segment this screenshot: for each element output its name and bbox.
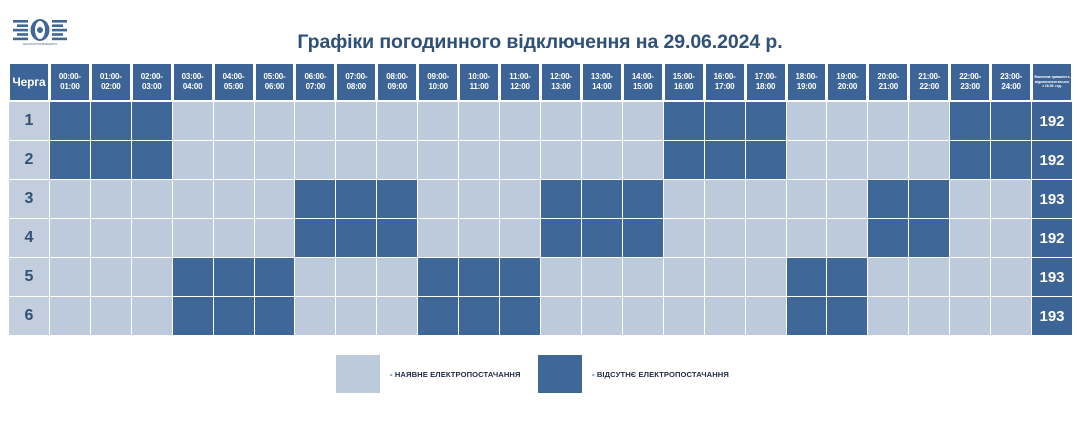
outage-cell-on bbox=[909, 102, 949, 140]
hour-end: 03:00 bbox=[133, 82, 171, 92]
outage-cell-off bbox=[255, 258, 295, 296]
outage-cell-off bbox=[746, 102, 786, 140]
hour-end: 02:00 bbox=[92, 82, 130, 92]
table-head: Черга 00:00-01:0001:00-02:0002:00-03:000… bbox=[9, 63, 1072, 101]
outage-cell-off bbox=[868, 219, 908, 257]
table-row: 1192 bbox=[9, 102, 1072, 140]
hour-end: 10:00 bbox=[419, 82, 457, 92]
column-header-hour: 11:00-12:00 bbox=[500, 63, 540, 101]
outage-cell-off bbox=[295, 219, 335, 257]
outage-cell-on bbox=[255, 180, 295, 218]
column-header-hour: 17:00-18:00 bbox=[746, 63, 786, 101]
hour-start: 12:00- bbox=[542, 72, 580, 82]
outage-cell-on bbox=[50, 180, 90, 218]
outage-cell-off bbox=[582, 180, 622, 218]
hour-start: 17:00- bbox=[747, 72, 785, 82]
table-row: 6193 bbox=[9, 297, 1072, 335]
outage-cell-off bbox=[132, 141, 172, 179]
outage-cell-on bbox=[173, 141, 213, 179]
outage-cell-on bbox=[377, 258, 417, 296]
outage-cell-on bbox=[132, 180, 172, 218]
outage-cell-off bbox=[91, 102, 131, 140]
outage-cell-on bbox=[500, 102, 540, 140]
queue-number-cell: 5 bbox=[9, 258, 49, 296]
column-header-hour: 23:00-24:00 bbox=[991, 63, 1031, 101]
hour-end: 21:00 bbox=[869, 82, 907, 92]
outage-cell-on bbox=[418, 219, 458, 257]
column-header-hour: 01:00-02:00 bbox=[91, 63, 131, 101]
hour-start: 22:00- bbox=[951, 72, 989, 82]
total-duration-cell: 193 bbox=[1032, 297, 1072, 335]
column-header-hour: 05:00-06:00 bbox=[255, 63, 295, 101]
outage-cell-on bbox=[705, 180, 745, 218]
hour-start: 21:00- bbox=[910, 72, 948, 82]
hour-start: 00:00- bbox=[51, 72, 89, 82]
legend-label-available: - НАЯВНЕ ЕЛЕКТРОПОСТАЧАННЯ bbox=[390, 370, 521, 379]
column-header-hour: 13:00-14:00 bbox=[582, 63, 622, 101]
outage-cell-off bbox=[541, 180, 581, 218]
column-header-total: Фактична тривалість відключення всього з… bbox=[1032, 63, 1072, 101]
outage-cell-on bbox=[295, 297, 335, 335]
outage-cell-on bbox=[377, 102, 417, 140]
outage-cell-on bbox=[295, 258, 335, 296]
column-header-hour: 07:00-08:00 bbox=[336, 63, 376, 101]
outage-cell-on bbox=[664, 219, 704, 257]
outage-schedule-page: ЗАКАРПАТТЯОБЛЕНЕРГО Графіки погодинного … bbox=[0, 0, 1080, 421]
outage-cell-on bbox=[50, 219, 90, 257]
outage-cell-off bbox=[746, 141, 786, 179]
legend-item-available: - НАЯВНЕ ЕЛЕКТРОПОСТАЧАННЯ bbox=[336, 355, 521, 393]
column-header-hour: 03:00-04:00 bbox=[173, 63, 213, 101]
hour-end: 04:00 bbox=[174, 82, 212, 92]
hour-start: 16:00- bbox=[706, 72, 744, 82]
outage-cell-off bbox=[787, 297, 827, 335]
hour-end: 06:00 bbox=[256, 82, 294, 92]
legend: - НАЯВНЕ ЕЛЕКТРОПОСТАЧАННЯ - ВІДСУТНЄ ЕЛ… bbox=[0, 355, 1080, 403]
outage-cell-off bbox=[377, 180, 417, 218]
outage-cell-on bbox=[705, 297, 745, 335]
table-row: 5193 bbox=[9, 258, 1072, 296]
outage-cell-on bbox=[541, 297, 581, 335]
outage-cell-off bbox=[868, 180, 908, 218]
hour-end: 18:00 bbox=[747, 82, 785, 92]
outage-cell-off bbox=[418, 297, 458, 335]
hour-start: 19:00- bbox=[828, 72, 866, 82]
table-row: 4192 bbox=[9, 219, 1072, 257]
outage-cell-off bbox=[787, 258, 827, 296]
hour-end: 12:00 bbox=[501, 82, 539, 92]
column-header-hour: 10:00-11:00 bbox=[459, 63, 499, 101]
outage-cell-on bbox=[827, 141, 867, 179]
column-header-hour: 16:00-17:00 bbox=[705, 63, 745, 101]
outage-cell-on bbox=[500, 180, 540, 218]
hour-start: 20:00- bbox=[869, 72, 907, 82]
outage-cell-on bbox=[746, 297, 786, 335]
outage-cell-off bbox=[991, 102, 1031, 140]
outage-cell-off bbox=[827, 297, 867, 335]
outage-cell-off bbox=[91, 141, 131, 179]
outage-cell-off bbox=[214, 258, 254, 296]
outage-cell-on bbox=[91, 180, 131, 218]
page-header: ЗАКАРПАТТЯОБЛЕНЕРГО Графіки погодинного … bbox=[0, 0, 1080, 62]
outage-cell-on bbox=[664, 297, 704, 335]
column-header-hour: 09:00-10:00 bbox=[418, 63, 458, 101]
outage-cell-on bbox=[336, 297, 376, 335]
outage-cell-on bbox=[91, 219, 131, 257]
hour-start: 23:00- bbox=[992, 72, 1030, 82]
hour-end: 23:00 bbox=[951, 82, 989, 92]
outage-cell-on bbox=[909, 258, 949, 296]
outage-cell-on bbox=[991, 258, 1031, 296]
outage-cell-on bbox=[336, 102, 376, 140]
column-header-hour: 18:00-19:00 bbox=[787, 63, 827, 101]
outage-cell-off bbox=[664, 141, 704, 179]
outage-cell-on bbox=[377, 141, 417, 179]
outage-cell-on bbox=[173, 219, 213, 257]
outage-cell-off bbox=[909, 180, 949, 218]
table-row: 3193 bbox=[9, 180, 1072, 218]
outage-cell-on bbox=[664, 180, 704, 218]
hour-start: 18:00- bbox=[788, 72, 826, 82]
total-duration-cell: 192 bbox=[1032, 102, 1072, 140]
hour-end: 05:00 bbox=[215, 82, 253, 92]
column-header-hour: 21:00-22:00 bbox=[909, 63, 949, 101]
outage-cell-on bbox=[541, 102, 581, 140]
outage-cell-on bbox=[827, 180, 867, 218]
outage-cell-off bbox=[295, 180, 335, 218]
column-header-hour: 15:00-16:00 bbox=[664, 63, 704, 101]
hour-end: 20:00 bbox=[828, 82, 866, 92]
outage-cell-on bbox=[950, 180, 990, 218]
outage-cell-on bbox=[909, 297, 949, 335]
outage-cell-on bbox=[91, 258, 131, 296]
column-header-hour: 06:00-07:00 bbox=[295, 63, 335, 101]
outage-cell-off bbox=[173, 297, 213, 335]
outage-cell-on bbox=[705, 219, 745, 257]
outage-cell-off bbox=[173, 258, 213, 296]
outage-cell-off bbox=[459, 258, 499, 296]
outage-cell-off bbox=[623, 219, 663, 257]
outage-cell-off bbox=[623, 180, 663, 218]
hour-end: 11:00 bbox=[460, 82, 498, 92]
hour-end: 15:00 bbox=[624, 82, 662, 92]
outage-cell-on bbox=[950, 258, 990, 296]
outage-cell-off bbox=[500, 297, 540, 335]
outage-cell-on bbox=[255, 219, 295, 257]
column-header-hour: 20:00-21:00 bbox=[868, 63, 908, 101]
hour-start: 06:00- bbox=[296, 72, 334, 82]
legend-swatch-available bbox=[336, 355, 380, 393]
outage-cell-off bbox=[132, 102, 172, 140]
outage-cell-on bbox=[623, 258, 663, 296]
outage-cell-on bbox=[991, 180, 1031, 218]
hour-start: 03:00- bbox=[174, 72, 212, 82]
outage-cell-on bbox=[50, 258, 90, 296]
outage-cell-on bbox=[91, 297, 131, 335]
hour-start: 04:00- bbox=[215, 72, 253, 82]
outage-cell-on bbox=[541, 141, 581, 179]
outage-cell-on bbox=[746, 219, 786, 257]
outage-cell-on bbox=[214, 102, 254, 140]
column-header-hour: 14:00-15:00 bbox=[623, 63, 663, 101]
outage-cell-off bbox=[950, 102, 990, 140]
table-row: 2192 bbox=[9, 141, 1072, 179]
hour-end: 16:00 bbox=[665, 82, 703, 92]
outage-cell-on bbox=[295, 141, 335, 179]
hour-start: 08:00- bbox=[378, 72, 416, 82]
outage-cell-on bbox=[746, 258, 786, 296]
hour-start: 01:00- bbox=[92, 72, 130, 82]
outage-cell-on bbox=[214, 180, 254, 218]
outage-cell-on bbox=[459, 141, 499, 179]
outage-cell-on bbox=[459, 219, 499, 257]
outage-cell-on bbox=[991, 297, 1031, 335]
legend-item-unavailable: - ВІДСУТНЄ ЕЛЕКТРОПОСТАЧАННЯ bbox=[538, 355, 729, 393]
outage-cell-on bbox=[827, 102, 867, 140]
outage-cell-on bbox=[787, 141, 827, 179]
hour-start: 07:00- bbox=[337, 72, 375, 82]
outage-cell-off bbox=[909, 219, 949, 257]
outage-cell-on bbox=[582, 102, 622, 140]
outage-cell-on bbox=[950, 297, 990, 335]
outage-cell-off bbox=[214, 297, 254, 335]
outage-cell-on bbox=[255, 141, 295, 179]
outage-cell-off bbox=[336, 180, 376, 218]
queue-number-cell: 6 bbox=[9, 297, 49, 335]
outage-cell-on bbox=[173, 102, 213, 140]
outage-cell-on bbox=[173, 180, 213, 218]
page-title: Графіки погодинного відключення на 29.06… bbox=[120, 31, 960, 54]
outage-cell-off bbox=[582, 219, 622, 257]
outage-cell-off bbox=[664, 102, 704, 140]
outage-cell-on bbox=[459, 102, 499, 140]
column-header-hour: 04:00-05:00 bbox=[214, 63, 254, 101]
hour-end: 19:00 bbox=[788, 82, 826, 92]
queue-number-cell: 1 bbox=[9, 102, 49, 140]
outage-cell-on bbox=[295, 102, 335, 140]
hour-end: 09:00 bbox=[378, 82, 416, 92]
hour-end: 17:00 bbox=[706, 82, 744, 92]
queue-number-cell: 3 bbox=[9, 180, 49, 218]
column-header-hour: 19:00-20:00 bbox=[827, 63, 867, 101]
outage-cell-on bbox=[664, 258, 704, 296]
hour-start: 02:00- bbox=[133, 72, 171, 82]
hour-start: 09:00- bbox=[419, 72, 457, 82]
company-logo: ЗАКАРПАТТЯОБЛЕНЕРГО bbox=[12, 18, 68, 48]
table-header-row: Черга 00:00-01:0001:00-02:0002:00-03:000… bbox=[9, 63, 1072, 101]
column-header-hour: 00:00-01:00 bbox=[50, 63, 90, 101]
outage-cell-on bbox=[623, 141, 663, 179]
logo-caption: ЗАКАРПАТТЯОБЛЕНЕРГО bbox=[12, 43, 68, 46]
outage-cell-on bbox=[336, 141, 376, 179]
outage-cell-on bbox=[623, 102, 663, 140]
outage-cell-on bbox=[991, 219, 1031, 257]
outage-cell-on bbox=[705, 258, 745, 296]
outage-cell-off bbox=[418, 258, 458, 296]
outage-cell-on bbox=[500, 141, 540, 179]
column-header-hour: 12:00-13:00 bbox=[541, 63, 581, 101]
outage-cell-on bbox=[787, 180, 827, 218]
outage-cell-on bbox=[541, 258, 581, 296]
outage-cell-on bbox=[132, 258, 172, 296]
total-duration-cell: 192 bbox=[1032, 219, 1072, 257]
column-header-hour: 22:00-23:00 bbox=[950, 63, 990, 101]
outage-cell-off bbox=[827, 258, 867, 296]
outage-cell-on bbox=[582, 141, 622, 179]
outage-cell-on bbox=[582, 258, 622, 296]
column-header-queue: Черга bbox=[9, 63, 49, 101]
outage-cell-on bbox=[418, 180, 458, 218]
legend-label-unavailable: - ВІДСУТНЄ ЕЛЕКТРОПОСТАЧАННЯ bbox=[592, 370, 729, 379]
hour-end: 08:00 bbox=[337, 82, 375, 92]
queue-number-cell: 2 bbox=[9, 141, 49, 179]
logo-icon bbox=[12, 18, 68, 42]
outage-cell-on bbox=[787, 102, 827, 140]
column-header-hour: 02:00-03:00 bbox=[132, 63, 172, 101]
hour-end: 07:00 bbox=[296, 82, 334, 92]
outage-cell-off bbox=[500, 258, 540, 296]
total-duration-cell: 193 bbox=[1032, 258, 1072, 296]
outage-cell-off bbox=[50, 102, 90, 140]
outage-cell-on bbox=[377, 297, 417, 335]
outage-cell-on bbox=[132, 219, 172, 257]
outage-cell-on bbox=[418, 141, 458, 179]
outage-cell-on bbox=[214, 141, 254, 179]
outage-cell-off bbox=[991, 141, 1031, 179]
outage-cell-off bbox=[705, 102, 745, 140]
legend-swatch-unavailable bbox=[538, 355, 582, 393]
outage-cell-on bbox=[500, 219, 540, 257]
outage-cell-on bbox=[132, 297, 172, 335]
outage-cell-on bbox=[459, 180, 499, 218]
outage-cell-on bbox=[950, 219, 990, 257]
outage-cell-on bbox=[868, 297, 908, 335]
outage-cell-on bbox=[787, 219, 827, 257]
hour-start: 13:00- bbox=[583, 72, 621, 82]
outage-cell-off bbox=[705, 141, 745, 179]
hour-end: 14:00 bbox=[583, 82, 621, 92]
column-header-hour: 08:00-09:00 bbox=[377, 63, 417, 101]
outage-cell-on bbox=[746, 180, 786, 218]
outage-cell-on bbox=[418, 102, 458, 140]
hour-start: 11:00- bbox=[501, 72, 539, 82]
outage-cell-on bbox=[868, 141, 908, 179]
outage-cell-on bbox=[623, 297, 663, 335]
outage-schedule-table: Черга 00:00-01:0001:00-02:0002:00-03:000… bbox=[8, 62, 1073, 336]
hour-end: 01:00 bbox=[51, 82, 89, 92]
outage-cell-off bbox=[50, 141, 90, 179]
hour-start: 15:00- bbox=[665, 72, 703, 82]
outage-cell-on bbox=[50, 297, 90, 335]
outage-cell-off bbox=[459, 297, 499, 335]
outage-cell-on bbox=[214, 219, 254, 257]
outage-cell-off bbox=[336, 219, 376, 257]
outage-cell-off bbox=[255, 297, 295, 335]
hour-start: 14:00- bbox=[624, 72, 662, 82]
hour-end: 13:00 bbox=[542, 82, 580, 92]
outage-cell-on bbox=[868, 258, 908, 296]
outage-cell-on bbox=[255, 102, 295, 140]
outage-cell-off bbox=[950, 141, 990, 179]
outage-cell-on bbox=[909, 141, 949, 179]
hour-start: 05:00- bbox=[256, 72, 294, 82]
outage-cell-on bbox=[582, 297, 622, 335]
total-duration-cell: 192 bbox=[1032, 141, 1072, 179]
table-body: 119221923193419251936193 bbox=[9, 102, 1072, 335]
outage-cell-on bbox=[868, 102, 908, 140]
outage-cell-off bbox=[377, 219, 417, 257]
outage-cell-on bbox=[336, 258, 376, 296]
hour-start: 10:00- bbox=[460, 72, 498, 82]
total-duration-cell: 193 bbox=[1032, 180, 1072, 218]
hour-end: 22:00 bbox=[910, 82, 948, 92]
outage-cell-off bbox=[541, 219, 581, 257]
queue-number-cell: 4 bbox=[9, 219, 49, 257]
hour-end: 24:00 bbox=[992, 82, 1030, 92]
outage-cell-on bbox=[827, 219, 867, 257]
